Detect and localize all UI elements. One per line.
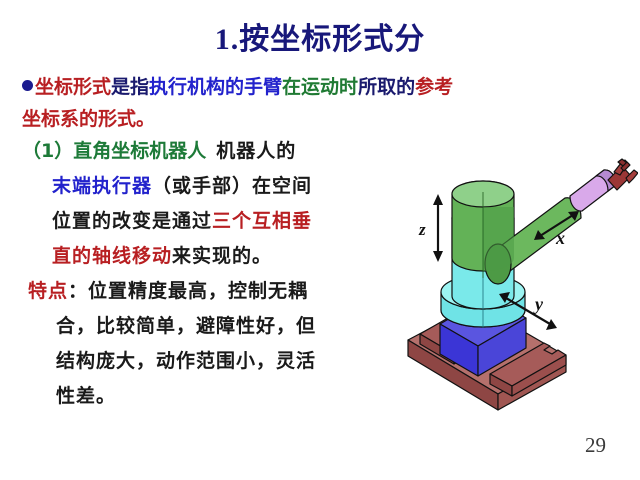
bullet-seg-3: 执行机构的手臂 [149, 76, 282, 98]
features-line-1: 特点：位置精度最高，控制无耦 [22, 282, 422, 317]
features-line-3: 结构庞大，动作范围小，灵活 [22, 352, 422, 387]
features-text-4: 性差。 [56, 386, 116, 407]
item-par-line-2-seg-2: （或手部）在空间 [152, 176, 312, 197]
z-axis-label: z [418, 220, 426, 239]
y-axis-label: y [533, 294, 544, 314]
item-heading-line: （1）直角坐标机器人机器人的 [22, 142, 422, 177]
features-text-2: 合，比较简单，避障性好，但 [56, 316, 316, 337]
page-title: 1.按坐标形式分 [0, 14, 640, 58]
item-par-line-2-seg-1: 末端执行器 [52, 176, 152, 197]
cartesian-robot-diagram: z y x [398, 158, 638, 413]
features-colon: ： [68, 281, 88, 302]
bullet-seg-4: 在运动时 [282, 76, 358, 98]
bullet-seg-2: 是指 [111, 76, 149, 98]
body-text-block: 坐标形式是指执行机构的手臂在运动时所取的参考 坐标系的形式。 （1）直角坐标机器… [22, 78, 422, 422]
x-axis-label: x [555, 228, 565, 248]
item-par-line-2: 末端执行器（或手部）在空间 [22, 177, 422, 212]
page-number: 29 [585, 433, 606, 458]
wrist-part [570, 170, 616, 211]
features-line-2: 合，比较简单，避障性好，但 [22, 317, 422, 352]
bullet-seg-6: 参考 [415, 76, 453, 98]
features-text-3: 结构庞大，动作范围小，灵活 [56, 351, 316, 372]
item-par-line-4: 直的轴线移动来实现的。 [22, 247, 422, 282]
item-par-line-1: 机器人的 [206, 141, 296, 162]
features-line-4: 性差。 [22, 387, 422, 422]
item-par-line-4-seg-2: 来实现的。 [172, 246, 272, 267]
slide-canvas: 1.按坐标形式分 坐标形式是指执行机构的手臂在运动时所取的参考 坐标系的形式。 … [0, 0, 640, 480]
item-par-line-3-seg-2: 三个互相垂 [212, 211, 312, 232]
item-par-line-3-seg-1: 位置的改变是通过 [52, 211, 212, 232]
bullet-line-2: 坐标系的形式。 [22, 110, 422, 142]
item-number-label: （1）直角坐标机器人 [22, 140, 206, 162]
bullet-line-1: 坐标形式是指执行机构的手臂在运动时所取的参考 [22, 78, 422, 110]
bullet-marker-icon [22, 80, 33, 91]
features-label: 特点 [28, 281, 68, 302]
features-text-1: 位置精度最高，控制无耦 [88, 281, 308, 302]
item-par-line-3: 位置的改变是通过三个互相垂 [22, 212, 422, 247]
bullet-seg-1: 坐标形式 [35, 76, 111, 98]
item-par-line-4-seg-1: 直的轴线移动 [52, 246, 172, 267]
bullet-seg-5: 所取的 [358, 76, 415, 98]
bullet-seg-7: 坐标系的形式。 [22, 108, 155, 130]
